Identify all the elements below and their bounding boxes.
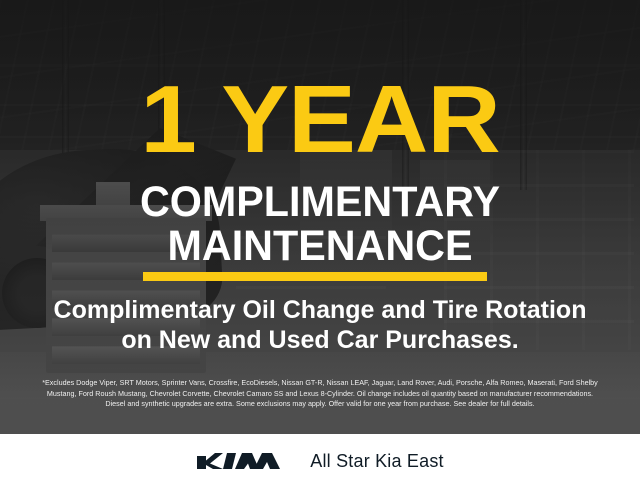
headline-complimentary: COMPLIMENTARY (13, 180, 627, 224)
promotional-banner: 1 YEAR COMPLIMENTARY MAINTENANCE Complim… (0, 0, 640, 488)
disclaimer-line: Diesel and synthetic upgrades are extra.… (14, 399, 626, 410)
hero-section: 1 YEAR COMPLIMENTARY MAINTENANCE Complim… (0, 0, 640, 434)
kia-logo-icon (196, 450, 282, 472)
disclaimer-text: *Excludes Dodge Viper, SRT Motors, Sprin… (14, 378, 626, 410)
hero-text-content: 1 YEAR COMPLIMENTARY MAINTENANCE Complim… (0, 0, 640, 434)
footer-brand-bar: All Star Kia East (0, 434, 640, 488)
disclaimer-line: *Excludes Dodge Viper, SRT Motors, Sprin… (14, 378, 626, 389)
headline-maintenance: MAINTENANCE (13, 224, 627, 268)
headline-duration: 1 YEAR (0, 72, 640, 168)
tagline-line-2: on New and Used Car Purchases. (0, 325, 640, 355)
disclaimer-line: Mustang, Ford Roush Mustang, Chevrolet C… (14, 389, 626, 400)
yellow-divider-bar (143, 272, 487, 281)
tagline-line-1: Complimentary Oil Change and Tire Rotati… (0, 295, 640, 325)
dealer-name: All Star Kia East (310, 451, 443, 472)
